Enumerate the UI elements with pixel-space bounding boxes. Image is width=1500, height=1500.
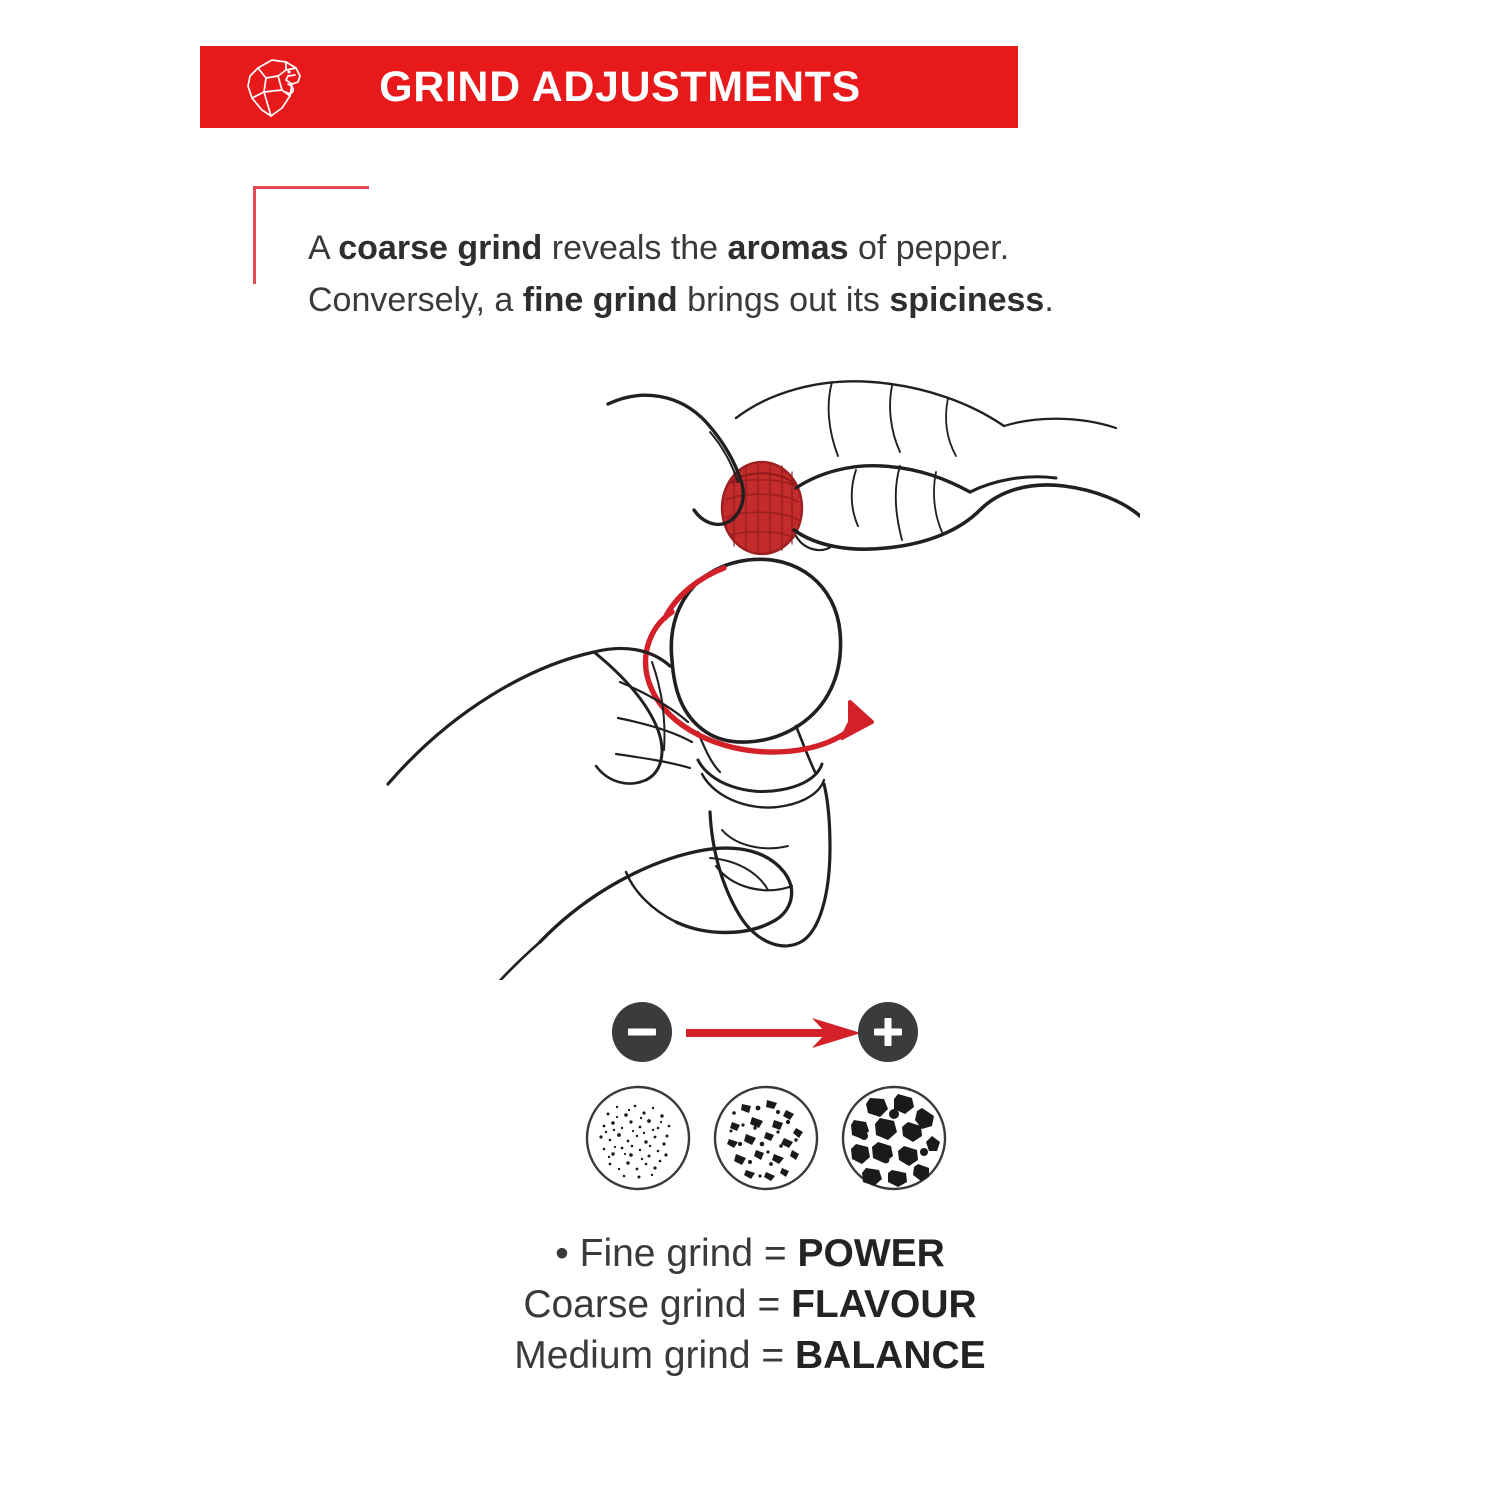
grind-texture-coarse-icon bbox=[840, 1084, 948, 1192]
arrow-right-icon bbox=[686, 1016, 861, 1050]
intro-emphasis-fine-grind: fine grind bbox=[523, 281, 678, 319]
legend-fine-label: • Fine grind = bbox=[555, 1232, 797, 1275]
grind-adjustments-banner: GRIND ADJUSTMENTS bbox=[200, 46, 1018, 128]
intro-emphasis-spiciness: spiciness bbox=[889, 281, 1044, 319]
intro-line-2: Conversely, a fine grind brings out its … bbox=[308, 274, 1208, 326]
intro-line-1: A coarse grind reveals the aromas of pep… bbox=[308, 222, 1208, 274]
plus-circle-icon[interactable] bbox=[858, 1002, 918, 1062]
intro-paragraph: A coarse grind reveals the aromas of pep… bbox=[308, 222, 1208, 326]
bracket-vertical-rule bbox=[253, 186, 256, 284]
intro-emphasis-aromas: aromas bbox=[728, 229, 849, 267]
grind-texture-samples bbox=[578, 1084, 958, 1196]
legend-medium-label: Medium grind = bbox=[514, 1334, 795, 1377]
lion-head-icon bbox=[238, 54, 306, 120]
grind-adjust-control-row bbox=[600, 1002, 930, 1064]
intro-emphasis-coarse-grind: coarse grind bbox=[338, 229, 542, 267]
legend-row-medium: Medium grind = BALANCE bbox=[250, 1330, 1250, 1381]
intro-text-e: brings out its bbox=[678, 281, 890, 319]
intro-text-c: of pepper. bbox=[849, 229, 1010, 267]
legend-coarse-label: Coarse grind = bbox=[523, 1283, 791, 1326]
intro-text-b: reveals the bbox=[542, 229, 727, 267]
legend-medium-value: BALANCE bbox=[795, 1334, 986, 1377]
grind-texture-medium-icon bbox=[712, 1084, 820, 1192]
plus-glyph-vertical bbox=[885, 1018, 892, 1046]
legend-row-coarse: Coarse grind = FLAVOUR bbox=[250, 1279, 1250, 1330]
legend-fine-value: POWER bbox=[798, 1232, 945, 1275]
legend-row-fine: • Fine grind = POWER bbox=[250, 1228, 1250, 1279]
minus-glyph bbox=[628, 1029, 656, 1036]
pepper-mill-illustration bbox=[380, 360, 1140, 980]
minus-circle-icon[interactable] bbox=[612, 1002, 672, 1062]
grind-texture-fine-icon bbox=[584, 1084, 692, 1192]
intro-text-d: Conversely, a bbox=[308, 281, 523, 319]
intro-text-a: A bbox=[308, 229, 338, 267]
bracket-horizontal-rule bbox=[253, 186, 369, 189]
intro-text-f: . bbox=[1044, 281, 1053, 319]
page-title: GRIND ADJUSTMENTS bbox=[200, 63, 1018, 112]
grind-result-legend: • Fine grind = POWER Coarse grind = FLAV… bbox=[250, 1228, 1250, 1381]
legend-coarse-value: FLAVOUR bbox=[791, 1283, 977, 1326]
